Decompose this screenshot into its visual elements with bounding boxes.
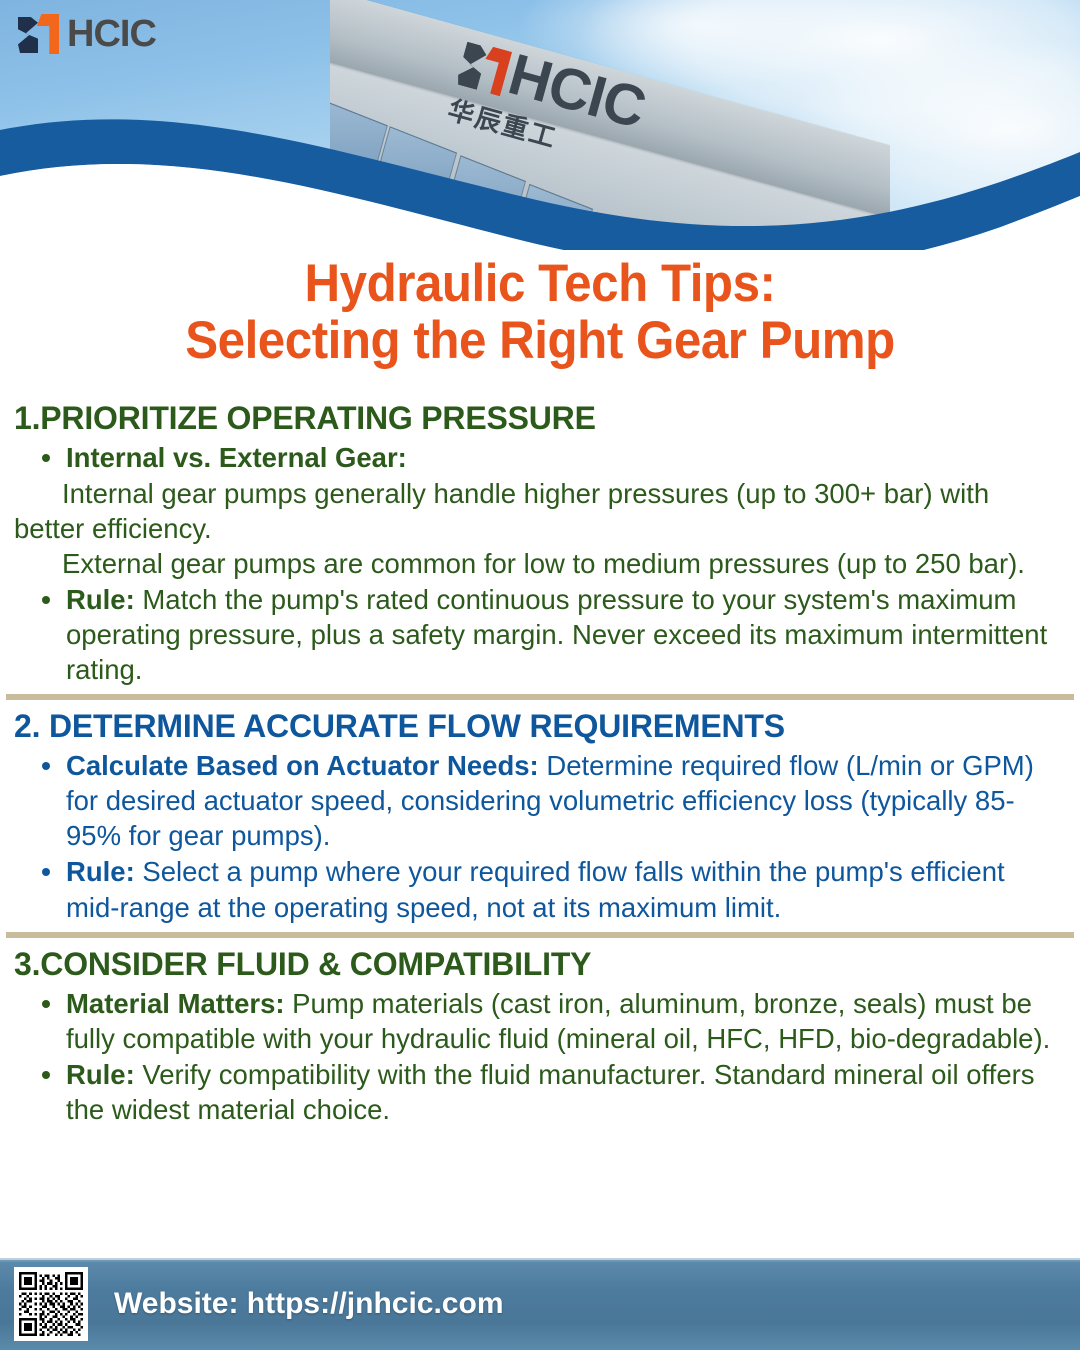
list-item: Rule: Match the pump's rated continuous … [14,582,1064,688]
section-1-paragraph-2: External gear pumps are common for low t… [14,546,1064,581]
section-1-list: Internal vs. External Gear: [14,440,1064,475]
section-prioritize-operating-pressure: 1.PRIORITIZE OPERATING PRESSURE Internal… [0,400,1080,687]
hcic-logo: HCIC [18,14,156,54]
bullet-lead: Rule: [66,584,135,615]
list-item: Internal vs. External Gear: [14,440,1064,475]
bullet-lead: Material Matters: [66,988,285,1019]
hcic-logo-text: HCIC [67,15,156,53]
section-divider-1 [6,694,1074,700]
title-line-1: Hydraulic Tech Tips: [305,254,776,313]
list-item: Calculate Based on Actuator Needs: Deter… [14,748,1064,854]
bullet-text: Verify compatibility with the fluid manu… [66,1059,1035,1125]
hcic-logo-mark-icon [18,14,58,54]
list-item: Material Matters: Pump materials (cast i… [14,986,1064,1056]
bullet-text: Match the pump's rated continuous pressu… [66,584,1047,685]
blue-wave-ribbon [0,0,1080,250]
section-1-heading: 1.PRIORITIZE OPERATING PRESSURE [14,400,1064,438]
list-item: Rule: Verify compatibility with the flui… [14,1057,1064,1127]
website-label[interactable]: Website: https://jnhcic.com [114,1287,504,1321]
section-2-heading: 2. DETERMINE ACCURATE FLOW REQUIREMENTS [14,708,1064,746]
qr-code[interactable] [14,1267,88,1341]
footer-bar: Website: https://jnhcic.com [0,1258,1080,1350]
list-item: Rule: Select a pump where your required … [14,854,1064,924]
section-consider-fluid-compatibility: 3.CONSIDER FLUID & COMPATIBILITY Materia… [0,946,1080,1128]
poster-title: Hydraulic Tech Tips: Selecting the Right… [38,255,1042,369]
section-1-paragraph-1: Internal gear pumps generally handle hig… [14,476,1064,546]
section-3-list: Material Matters: Pump materials (cast i… [14,986,1064,1128]
bullet-lead: Internal vs. External Gear: [66,442,407,473]
section-divider-2 [6,932,1074,938]
bullet-lead: Calculate Based on Actuator Needs: [66,750,539,781]
header-banner: HCIC 华辰重工 HCIC [0,0,1080,250]
bullet-lead: Rule: [66,856,135,887]
section-determine-accurate-flow-requirements: 2. DETERMINE ACCURATE FLOW REQUIREMENTS … [0,708,1080,925]
poster-page: HCIC 华辰重工 HCIC Hydraulic Tech Tips: Sele… [0,0,1080,1350]
bullet-lead: Rule: [66,1059,135,1090]
section-2-list: Calculate Based on Actuator Needs: Deter… [14,748,1064,925]
section-1-list-2: Rule: Match the pump's rated continuous … [14,582,1064,688]
qr-code-icon [19,1272,83,1336]
bullet-text: Select a pump where your required flow f… [66,856,1005,922]
tips-content: 1.PRIORITIZE OPERATING PRESSURE Internal… [0,400,1080,1128]
section-3-heading: 3.CONSIDER FLUID & COMPATIBILITY [14,946,1064,984]
title-line-2: Selecting the Right Gear Pump [38,312,1042,369]
